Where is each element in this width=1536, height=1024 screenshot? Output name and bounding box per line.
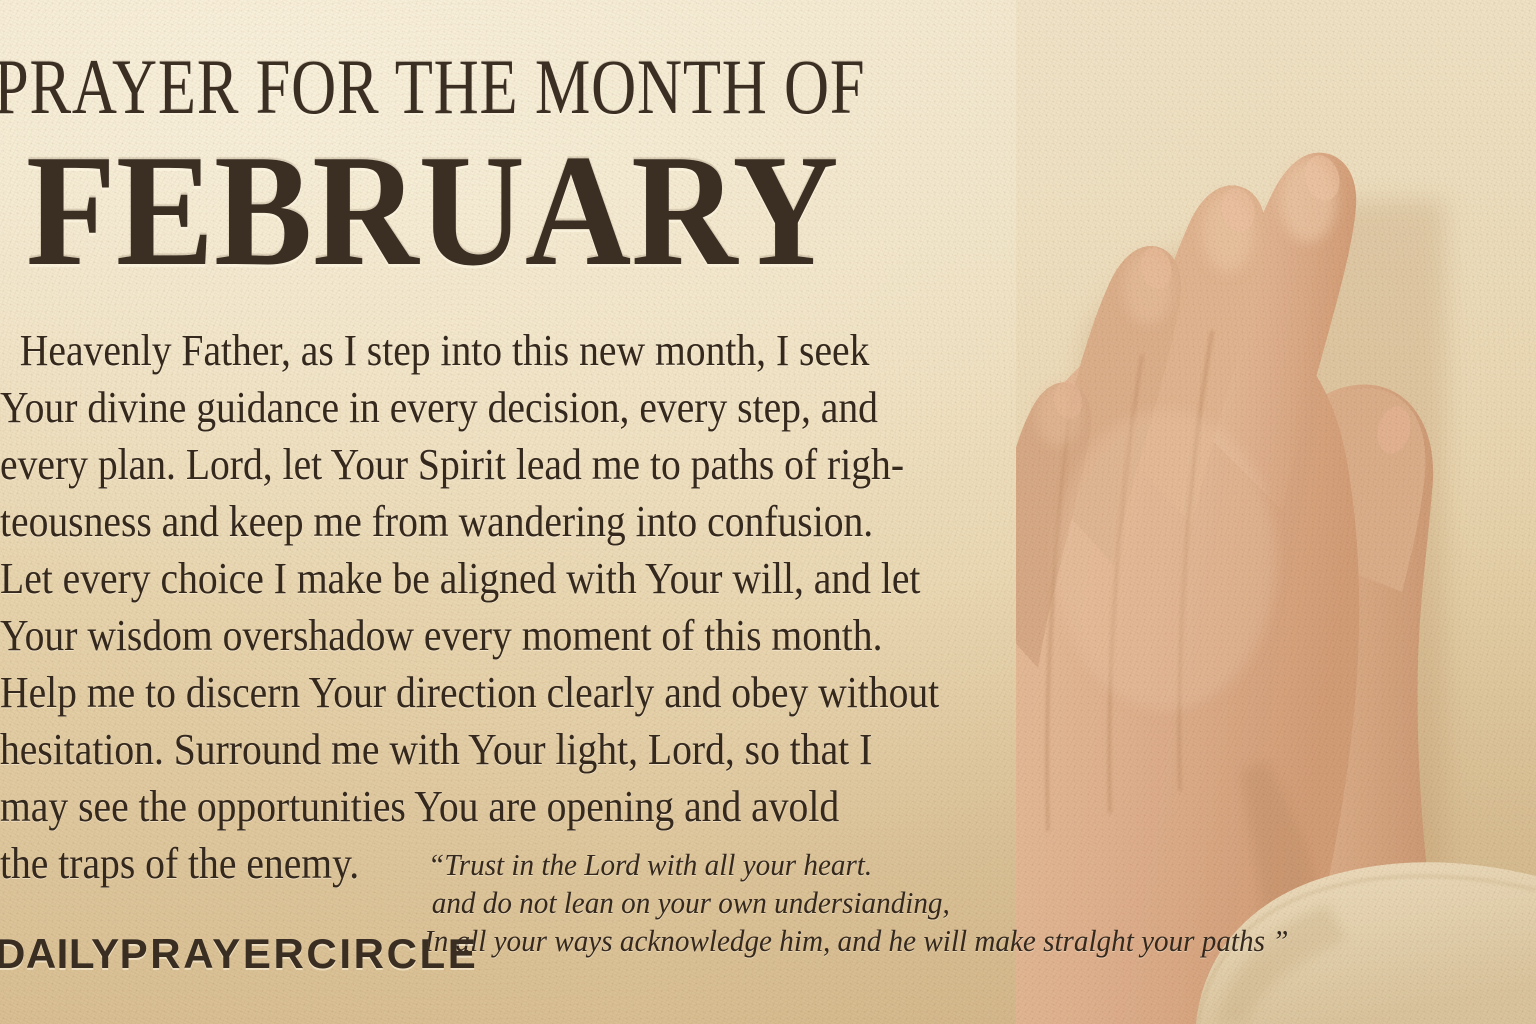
brand-part-prayercircle: PRAYERCIRCLE <box>120 930 479 977</box>
brand-wordmark: DAILYPRAYERCIRCLE <box>0 930 478 978</box>
page-title: FEBRUARY <box>26 130 839 290</box>
prayer-line: Let every choice I make be aligned with … <box>0 550 981 607</box>
prayer-line: Your divine guidance in every decision, … <box>0 379 981 436</box>
brand-part-daily: DAILY <box>0 930 120 977</box>
prayer-poster: PRAYER FOR THE MONTH OF FEBRUARY Heavenl… <box>0 0 1536 1024</box>
prayer-line: teousness and keep me from wandering int… <box>0 493 981 550</box>
prayer-line: Your wisdom overshadow every moment of t… <box>0 607 981 664</box>
prayer-line: may see the opportunities You are openin… <box>0 778 981 835</box>
page-kicker: PRAYER FOR THE MONTH OF <box>0 42 865 132</box>
scripture-line: and do not lean on your own undersiandin… <box>428 884 1368 922</box>
prayer-line: Heavenly Father, as I step into this new… <box>0 322 981 379</box>
scripture-quote: “Trust in the Lord with all your heart. … <box>428 846 1428 960</box>
prayer-line: every plan. Lord, let Your Spirit lead m… <box>0 436 981 493</box>
prayer-line: Help me to discern Your direction clearl… <box>0 664 981 721</box>
prayer-body: Heavenly Father, as I step into this new… <box>0 322 1090 892</box>
prayer-line: hesitation. Surround me with Your light,… <box>0 721 981 778</box>
scripture-line: “Trust in the Lord with all your heart. <box>428 846 1368 884</box>
scripture-line: In all your ways acknowledge him, and he… <box>424 922 1368 960</box>
